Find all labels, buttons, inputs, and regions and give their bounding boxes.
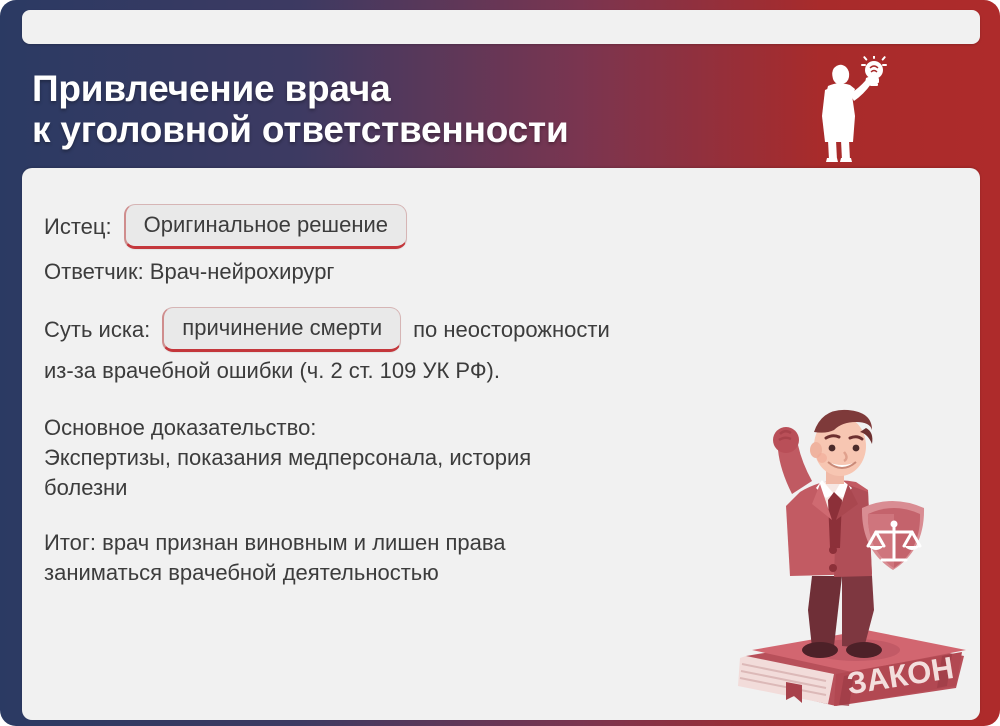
defendant-text: Ответчик: Врач-нейрохирург [44,257,334,287]
plaintiff-highlight-pill[interactable]: Оригинальное решение [124,204,407,249]
plaintiff-row: Истец: Оригинальное решение [44,204,980,249]
claim-tail-text: по неосторожности [413,315,610,345]
defendant-row: Ответчик: Врач-нейрохирург [44,257,980,287]
content-panel: Истец: Оригинальное решение Ответчик: Вр… [22,168,980,720]
claim-highlight-pill[interactable]: причинение смерти [162,307,401,352]
law-book: ЗАКОН [738,630,966,706]
top-strip [22,10,980,44]
evidence-block: Основное доказательство: Экспертизы, пок… [44,413,744,504]
book-label: ЗАКОН [845,650,956,701]
header-band: Привлечение врача к уголовной ответствен… [10,50,990,168]
claim-second-line: из-за врачебной ошибки (ч. 2 ст. 109 УК … [44,356,744,386]
lawyer-figure [773,410,924,658]
plaintiff-label: Истец: [44,212,112,242]
person-with-lightbulb-icon [808,56,894,162]
infographic-card: Привлечение врача к уголовной ответствен… [0,0,1000,726]
outcome-block: Итог: врач признан виновным и лишен прав… [44,528,744,589]
claim-row: Суть иска: причинение смерти по неосторо… [44,307,980,352]
lawyer-on-law-book-illustration: ЗАКОН [716,398,978,720]
claim-label: Суть иска: [44,315,150,345]
page-title: Привлечение врача к уголовной ответствен… [10,68,568,151]
